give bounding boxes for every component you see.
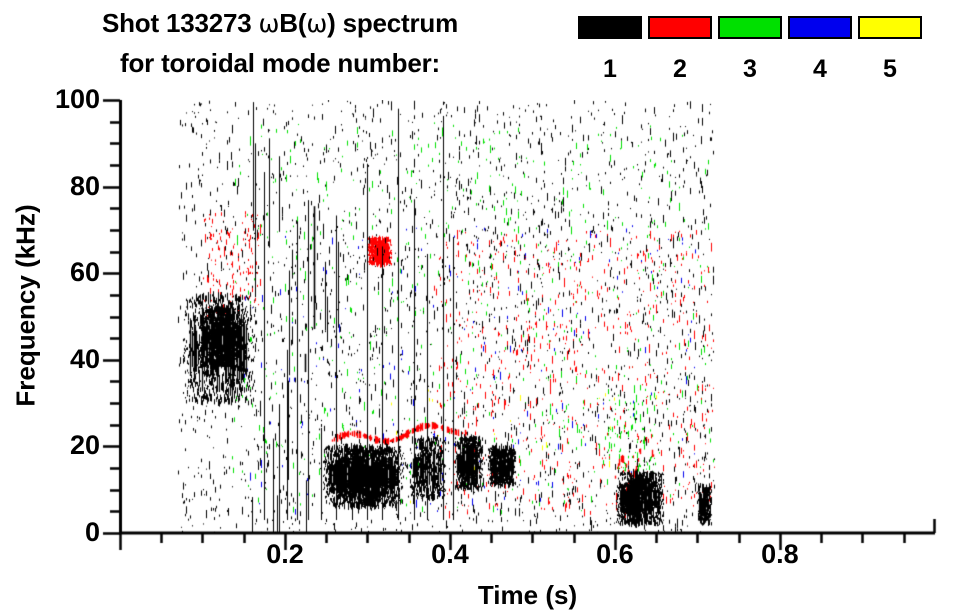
y-axis-title: Frequency (kHz) <box>11 136 42 476</box>
x-axis-title: Time (s) <box>120 580 935 611</box>
legend-swatch-mode-5 <box>858 16 922 39</box>
legend: 1 2 3 4 5 <box>578 0 938 95</box>
legend-label-mode-4: 4 <box>788 55 852 84</box>
legend-label-mode-2: 2 <box>648 55 712 84</box>
x-axis-tick-labels: 0.20.40.60.8 <box>0 541 963 581</box>
figure-root: Shot 133273 ωB(ω) spectrum for toroidal … <box>0 0 963 615</box>
spectrogram-plot <box>120 100 935 533</box>
x-tick-label-0.2: 0.2 <box>240 541 330 568</box>
x-tick-label-0.4: 0.4 <box>405 541 495 568</box>
legend-swatch-mode-3 <box>718 16 782 39</box>
legend-item-1[interactable]: 1 <box>578 0 642 95</box>
x-tick-label-0.6: 0.6 <box>570 541 660 568</box>
y-tick-label-100: 100 <box>16 86 100 113</box>
legend-swatch-mode-2 <box>648 16 712 39</box>
legend-swatch-mode-1 <box>578 16 642 39</box>
legend-swatch-mode-4 <box>788 16 852 39</box>
plot-area[interactable] <box>120 100 935 533</box>
legend-label-mode-1: 1 <box>578 55 642 84</box>
legend-item-2[interactable]: 2 <box>648 0 712 95</box>
x-tick-label-0.8: 0.8 <box>735 541 825 568</box>
legend-label-mode-3: 3 <box>718 55 782 84</box>
omega-symbol-1: ω <box>259 9 280 38</box>
legend-label-mode-5: 5 <box>858 55 922 84</box>
legend-item-5[interactable]: 5 <box>858 0 922 95</box>
legend-item-3[interactable]: 3 <box>718 0 782 95</box>
omega-symbol-2: ω <box>306 9 327 38</box>
legend-item-4[interactable]: 4 <box>788 0 852 95</box>
